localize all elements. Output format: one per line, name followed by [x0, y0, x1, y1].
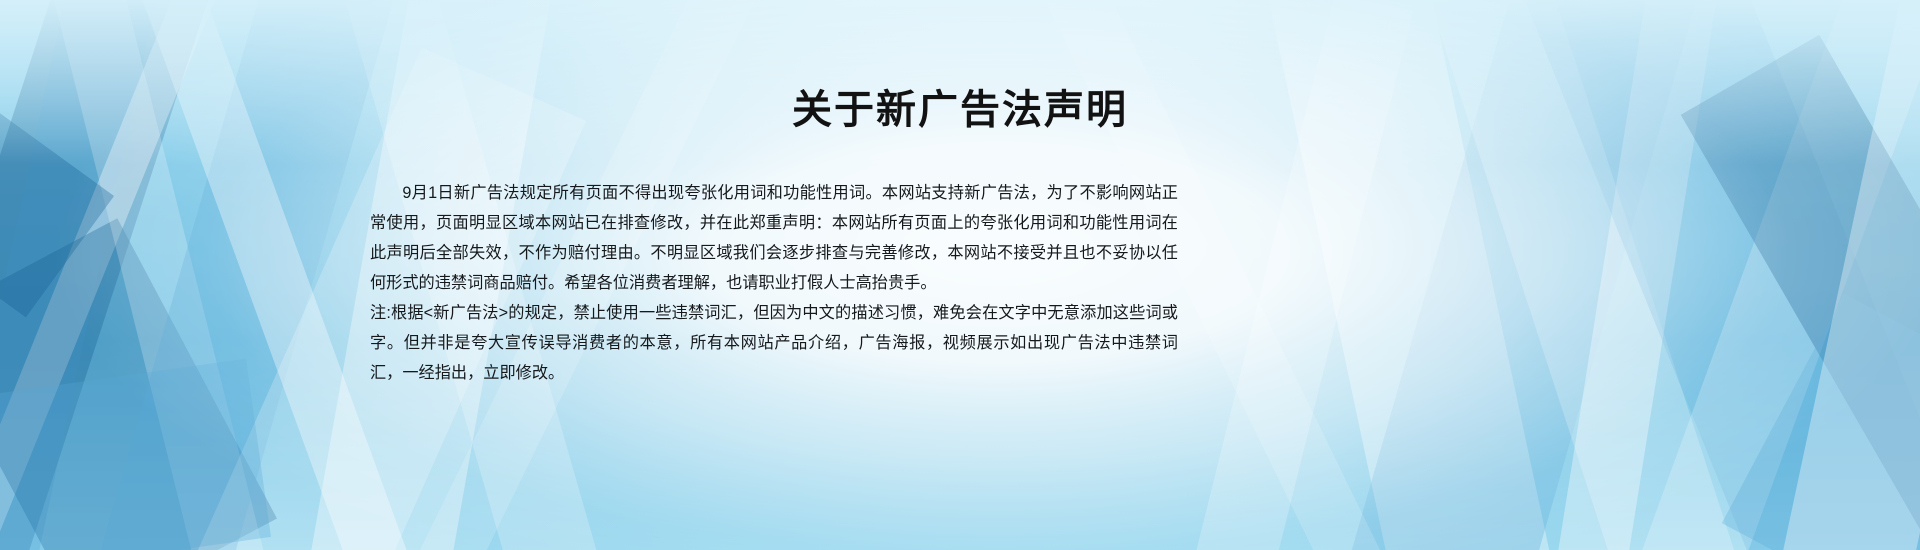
statement-content: 关于新广告法声明 9月1日新广告法规定所有页面不得出现夸张化用词和功能性用词。本…: [0, 0, 1920, 550]
advertising-law-statement-banner: 关于新广告法声明 9月1日新广告法规定所有页面不得出现夸张化用词和功能性用词。本…: [0, 0, 1920, 550]
statement-body: 9月1日新广告法规定所有页面不得出现夸张化用词和功能性用词。本网站支持新广告法，…: [370, 178, 1178, 388]
statement-paragraph-note: 注:根据<新广告法>的规定，禁止使用一些违禁词汇，但因为中文的描述习惯，难免会在…: [370, 298, 1178, 388]
statement-paragraph-main: 9月1日新广告法规定所有页面不得出现夸张化用词和功能性用词。本网站支持新广告法，…: [370, 178, 1178, 298]
page-title: 关于新广告法声明: [0, 86, 1920, 134]
